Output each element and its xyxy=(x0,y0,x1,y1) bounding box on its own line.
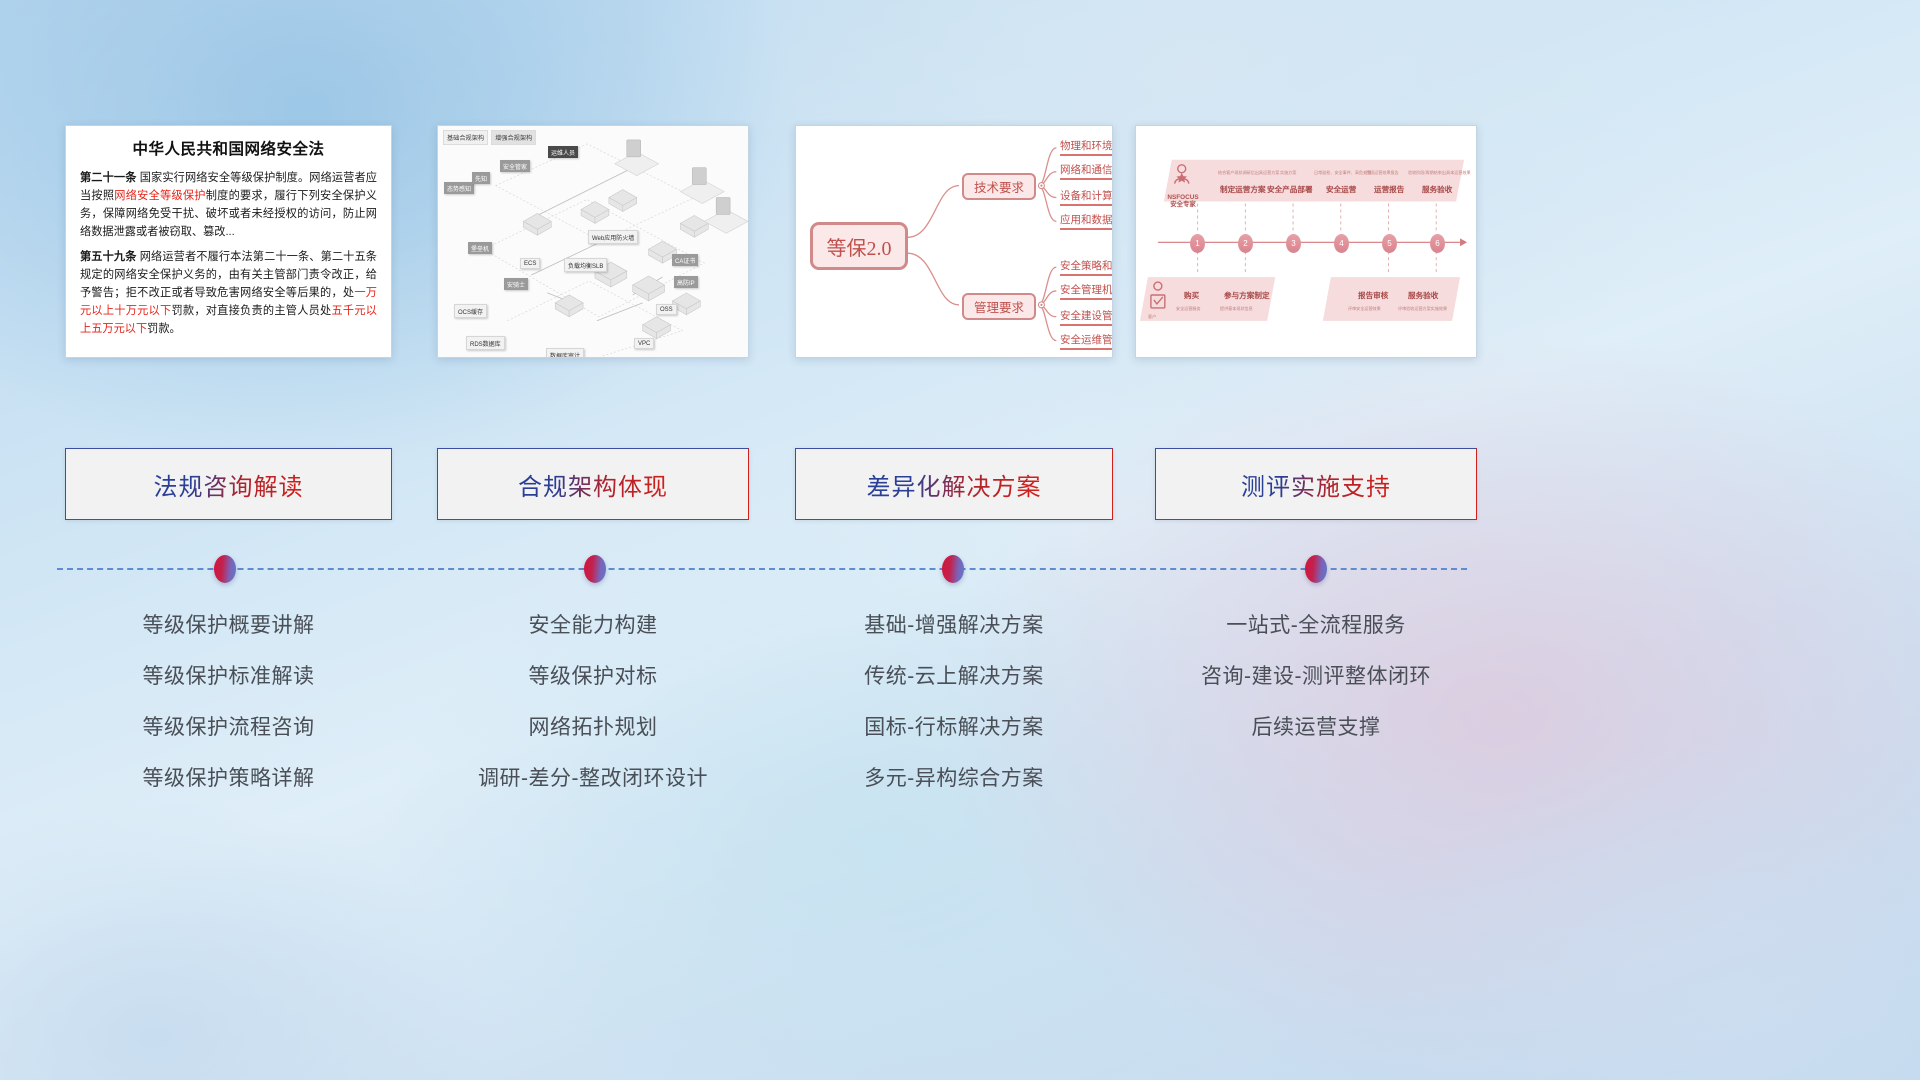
list-item: 等级保护流程咨询 xyxy=(65,702,392,753)
list-item: 国标-行标解决方案 xyxy=(795,702,1113,753)
thumbnail-row: 中华人民共和国网络安全法 第二十一条 国家实行网络安全等级保护制度。网络运营者应… xyxy=(0,125,1920,365)
arch-tab-basic[interactable]: 基础合规架构 xyxy=(443,130,488,145)
title-label-assessment-support: 测评实施支持 xyxy=(1241,467,1391,502)
nsfocus-step-number-6: 6 xyxy=(1430,234,1445,253)
nsfocus-step2-bottom-title: 参与方案制定 xyxy=(1224,290,1270,301)
timeline-dot-4[interactable] xyxy=(1305,555,1327,583)
law-article-59-label: 第五十九条 xyxy=(80,251,137,263)
arch-node-ecs: ECS xyxy=(520,258,540,269)
list-item: 调研-差分-整改闭环设计 xyxy=(437,753,749,804)
mindmap-leaf-policy-system: 安全策略和管理制度 xyxy=(1060,258,1113,276)
nsfocus-step6-bottom-title: 服务验收 xyxy=(1408,290,1438,301)
arch-node-anqishi: 安骑士 xyxy=(504,278,528,290)
title-box-regulation-consulting[interactable]: 法规咨询解读 xyxy=(65,448,392,520)
title-label-regulation-consulting: 法规咨询解读 xyxy=(154,467,304,502)
title-row: 法规咨询解读 合规架构体现 差异化解决方案 测评实施支持 xyxy=(0,448,1920,520)
nsfocus-step2-top-title: 制定运营方案 xyxy=(1220,184,1266,195)
mindmap-branch-management: 管理要求 xyxy=(962,293,1036,320)
arch-node-xianzhi: 先知 xyxy=(472,172,490,184)
detail-list-compliance-architecture: 安全能力构建 等级保护对标 网络拓扑规划 调研-差分-整改闭环设计 xyxy=(437,600,749,804)
list-item: 一站式-全流程服务 xyxy=(1155,600,1477,651)
title-box-compliance-architecture[interactable]: 合规架构体现 xyxy=(437,448,749,520)
timeline-dot-1[interactable] xyxy=(214,555,236,583)
mindmap-leaf-physical-env: 物理和环境安全 xyxy=(1060,138,1113,156)
mindmap-leaf-device-compute: 设备和计算安全 xyxy=(1060,188,1113,206)
law-paragraph-59: 第五十九条 网络运营者不履行本法第二十一条、第二十五条规定的网络安全保护义务的，… xyxy=(80,248,377,339)
title-label-compliance-architecture: 合规架构体现 xyxy=(518,467,668,502)
list-item: 咨询-建设-测评整体闭环 xyxy=(1155,651,1477,702)
nsfocus-step1-bottom-title: 购买 xyxy=(1184,290,1199,301)
list-item: 安全能力构建 xyxy=(437,600,749,651)
nsfocus-top-actor: NSFOCUS安全专家 xyxy=(1158,194,1208,209)
mindmap-root: 等保2.0 xyxy=(810,222,908,270)
arch-node-vpc: VPC xyxy=(634,338,654,349)
nsfocus-step2-top-sub: 结合客户现状调研后出具运营方案 xyxy=(1218,170,1279,176)
nsfocus-step6-top-title: 服务验收 xyxy=(1422,184,1452,195)
nsfocus-canvas: NSFOCUS安全专家 客户 结合客户现状调研后出具运营方案 制定运营方案 实施… xyxy=(1136,126,1476,357)
nsfocus-step2-bottom-sub: 提供基本现状信息 xyxy=(1220,306,1253,312)
architecture-tabs: 基础合规架构 增强合规架构 xyxy=(443,130,536,145)
thumbnail-djcp-mindmap[interactable]: 等保2.0 技术要求 管理要求 物理和环境安全 网络和通信安全 设备和计算安全 … xyxy=(795,125,1113,358)
nsfocus-step5-bottom-title: 报告审核 xyxy=(1358,290,1388,301)
arch-node-ca-cert: CA证书 xyxy=(672,254,698,266)
nsfocus-graphics xyxy=(1136,126,1476,358)
mindmap-canvas: 等保2.0 技术要求 管理要求 物理和环境安全 网络和通信安全 设备和计算安全 … xyxy=(796,126,1112,357)
mindmap-leaf-app-data: 应用和数据安全 xyxy=(1060,212,1113,230)
arch-node-slb: 负载均衡SLB xyxy=(564,258,607,272)
list-item: 等级保护对标 xyxy=(437,651,749,702)
nsfocus-step6-top-sub: 验收阶段/周期结束出具本运营效果 xyxy=(1408,170,1471,176)
nsfocus-step-number-2: 2 xyxy=(1238,234,1253,253)
list-item: 后续运营支撑 xyxy=(1155,702,1477,753)
nsfocus-step-number-1: 1 xyxy=(1190,234,1205,253)
arch-tab-enhanced[interactable]: 增强合规架构 xyxy=(491,130,536,145)
law-article-21-label: 第二十一条 xyxy=(80,172,137,184)
nsfocus-step3-top-sub: 实施方案 xyxy=(1280,170,1296,176)
title-label-differentiated-solution: 差异化解决方案 xyxy=(867,467,1042,502)
arch-node-security-butler: 安全管家 xyxy=(500,160,530,172)
title-box-assessment-support[interactable]: 测评实施支持 xyxy=(1155,448,1477,520)
list-item: 多元-异构综合方案 xyxy=(795,753,1113,804)
mindmap-leaf-ops-mgmt: 安全运维管理 xyxy=(1060,332,1113,350)
arch-node-ocs-cache: OCS缓存 xyxy=(454,304,487,318)
list-item: 网络拓扑规划 xyxy=(437,702,749,753)
list-item: 传统-云上解决方案 xyxy=(795,651,1113,702)
nsfocus-step-number-3: 3 xyxy=(1286,234,1301,253)
list-item: 基础-增强解决方案 xyxy=(795,600,1113,651)
thumbnail-compliance-architecture[interactable]: 基础合规架构 增强合规架构 xyxy=(437,125,749,358)
law-article-21-run-1: 网络安全等级保护 xyxy=(114,190,205,202)
nsfocus-step5-top-title: 运营报告 xyxy=(1374,184,1404,195)
timeline-dot-3[interactable] xyxy=(942,555,964,583)
arch-node-db-audit: 数据库审计 xyxy=(546,348,584,358)
timeline-dashed-line xyxy=(57,568,1467,570)
timeline xyxy=(57,568,1467,570)
nsfocus-step4-top-sub: 日常巡检、安全事件、高危处置 xyxy=(1314,170,1371,176)
timeline-dot-2[interactable] xyxy=(584,555,606,583)
list-item: 等级保护策略详解 xyxy=(65,753,392,804)
arch-node-bastion-host: 堡垒机 xyxy=(468,242,492,254)
title-box-differentiated-solution[interactable]: 差异化解决方案 xyxy=(795,448,1113,520)
nsfocus-step1-bottom-sub: 安全运营服务 xyxy=(1176,306,1201,312)
nsfocus-step5-top-sub: 阶段运营效果报告 xyxy=(1366,170,1399,176)
mindmap-branch-technical: 技术要求 xyxy=(962,173,1036,200)
arch-node-rds: RDS数据库 xyxy=(466,336,505,350)
law-article-59-run-2: 罚款，对直接负责的主管人员处 xyxy=(171,305,331,317)
nsfocus-step6-bottom-sub: 评审验收运营方案实施效果 xyxy=(1398,306,1447,312)
nsfocus-step-number-5: 5 xyxy=(1382,234,1397,253)
arch-node-internet: 运维人员 xyxy=(548,146,578,158)
arch-node-situational-awareness: 态势感知 xyxy=(444,182,474,194)
law-document-body: 中华人民共和国网络安全法 第二十一条 国家实行网络安全等级保护制度。网络运营者应… xyxy=(66,126,391,338)
nsfocus-step-number-4: 4 xyxy=(1334,234,1349,253)
law-title: 中华人民共和国网络安全法 xyxy=(80,137,377,159)
arch-node-oss: OSS xyxy=(656,304,677,315)
detail-list-assessment-support: 一站式-全流程服务 咨询-建设-测评整体闭环 后续运营支撑 xyxy=(1155,600,1477,753)
law-paragraph-21: 第二十一条 国家实行网络安全等级保护制度。网络运营者应当按照网络安全等级保护制度… xyxy=(80,169,377,242)
arch-node-anti-ddos: 高防IP xyxy=(674,276,698,288)
detail-list-regulation-consulting: 等级保护概要讲解 等级保护标准解读 等级保护流程咨询 等级保护策略详解 xyxy=(65,600,392,804)
mindmap-leaf-network-comm: 网络和通信安全 xyxy=(1060,162,1113,180)
nsfocus-step4-top-title: 安全运营 xyxy=(1326,184,1356,195)
list-item: 等级保护概要讲解 xyxy=(65,600,392,651)
mindmap-leaf-construction-mgmt: 安全建设管理 xyxy=(1060,308,1113,326)
list-item: 等级保护标准解读 xyxy=(65,651,392,702)
mindmap-leaf-org-personnel: 安全管理机构和人员 xyxy=(1060,282,1113,300)
arch-node-waf: Web应用防火墙 xyxy=(588,230,638,244)
law-article-59-run-4: 罚款。 xyxy=(147,323,181,335)
detail-list-differentiated-solution: 基础-增强解决方案 传统-云上解决方案 国标-行标解决方案 多元-异构综合方案 xyxy=(795,600,1113,804)
nsfocus-step3-top-title: 安全产品部署 xyxy=(1267,184,1313,195)
architecture-diagram: 基础合规架构 增强合规架构 xyxy=(438,126,748,357)
thumbnail-nsfocus-timeline[interactable]: NSFOCUS安全专家 客户 结合客户现状调研后出具运营方案 制定运营方案 实施… xyxy=(1135,125,1477,358)
nsfocus-step5-bottom-sub: 评审安全运营效果 xyxy=(1348,306,1381,312)
slide-stage: 中华人民共和国网络安全法 第二十一条 国家实行网络安全等级保护制度。网络运营者应… xyxy=(0,0,1920,1080)
thumbnail-law-document[interactable]: 中华人民共和国网络安全法 第二十一条 国家实行网络安全等级保护制度。网络运营者应… xyxy=(65,125,392,358)
nsfocus-bottom-actor: 客户 xyxy=(1148,314,1156,320)
